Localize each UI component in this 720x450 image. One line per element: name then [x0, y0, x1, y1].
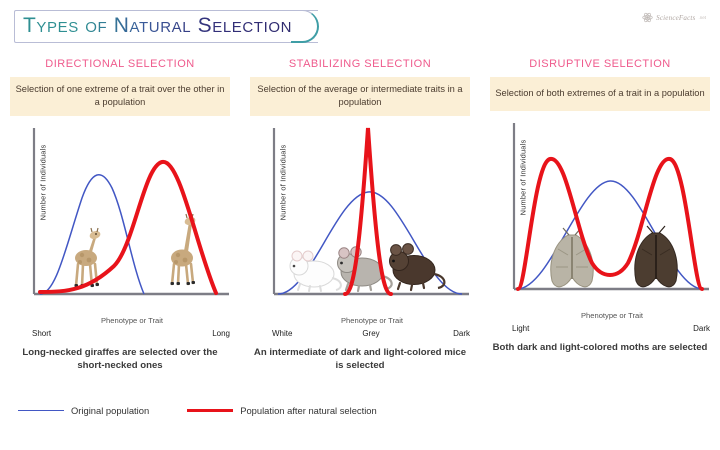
page-title: Types of Natural Selection [23, 14, 292, 37]
title-banner: Types of Natural Selection [14, 10, 318, 43]
panel-title: STABILIZING SELECTION [250, 58, 470, 70]
panel-description: Selection of both extremes of a trait in… [490, 77, 710, 111]
dark-moth-illustration [635, 226, 677, 287]
panel-description: Selection of the average or intermediate… [250, 77, 470, 116]
legend-item-original-population: Original population [18, 405, 149, 416]
panel-title: DISRUPTIVE SELECTION [490, 58, 710, 70]
x-tick-mid: Grey [362, 329, 379, 338]
chart-stabilizing-selection: Number of Individuals [250, 126, 470, 338]
panel-title: DIRECTIONAL SELECTION [10, 58, 230, 70]
chart-directional-selection: Number of Individuals [10, 126, 230, 338]
x-axis-ticks: Short Long [32, 329, 230, 338]
x-tick-start: White [272, 329, 292, 338]
legend-swatch-red-line-icon [187, 409, 233, 412]
panel-caption: Long-necked giraffes are selected over t… [10, 346, 230, 373]
x-tick-end: Dark [453, 329, 470, 338]
x-tick-start: Light [512, 324, 529, 333]
brand-tld: .net [698, 15, 706, 20]
y-axis-label: Number of Individuals [279, 127, 288, 237]
y-axis-label: Number of Individuals [39, 127, 48, 237]
x-axis-label: Phenotype or Trait [514, 311, 710, 320]
legend-label: Original population [71, 405, 149, 416]
panel-caption: Both dark and light-colored moths are se… [490, 341, 710, 354]
legend-swatch-blue-line-icon [18, 410, 64, 411]
brand-name: ScienceFacts [656, 14, 695, 22]
x-axis-label: Phenotype or Trait [274, 316, 470, 325]
title-box: Types of Natural Selection [14, 10, 318, 43]
chart-disruptive-selection: Number of Individuals [490, 121, 710, 333]
x-tick-start: Short [32, 329, 51, 338]
panel-container: DIRECTIONAL SELECTION Selection of one e… [0, 58, 720, 373]
panel-description: Selection of one extreme of a trait over… [10, 77, 230, 116]
x-axis-ticks: White Grey Dark [272, 329, 470, 338]
legend-label: Population after natural selection [240, 405, 377, 416]
y-axis-label: Number of Individuals [519, 123, 528, 233]
panel-caption: An intermediate of dark and light-colore… [250, 346, 470, 373]
x-axis-ticks: Light Dark [512, 324, 710, 333]
dark-mouse-illustration [390, 244, 445, 290]
atom-icon [642, 12, 653, 23]
panel-disruptive-selection: DISRUPTIVE SELECTION Selection of both e… [480, 58, 720, 373]
panel-stabilizing-selection: STABILIZING SELECTION Selection of the a… [240, 58, 480, 373]
chart-legend: Original population Population after nat… [0, 405, 720, 416]
x-tick-end: Dark [693, 324, 710, 333]
brand-watermark: ScienceFacts .net [642, 12, 706, 23]
x-axis-label: Phenotype or Trait [34, 316, 230, 325]
light-moth-illustration [551, 228, 593, 287]
panel-directional-selection: DIRECTIONAL SELECTION Selection of one e… [0, 58, 240, 373]
x-tick-end: Long [212, 329, 230, 338]
legend-item-after-selection: Population after natural selection [187, 405, 377, 416]
infographic-root: Types of Natural Selection ScienceFacts … [0, 0, 720, 450]
